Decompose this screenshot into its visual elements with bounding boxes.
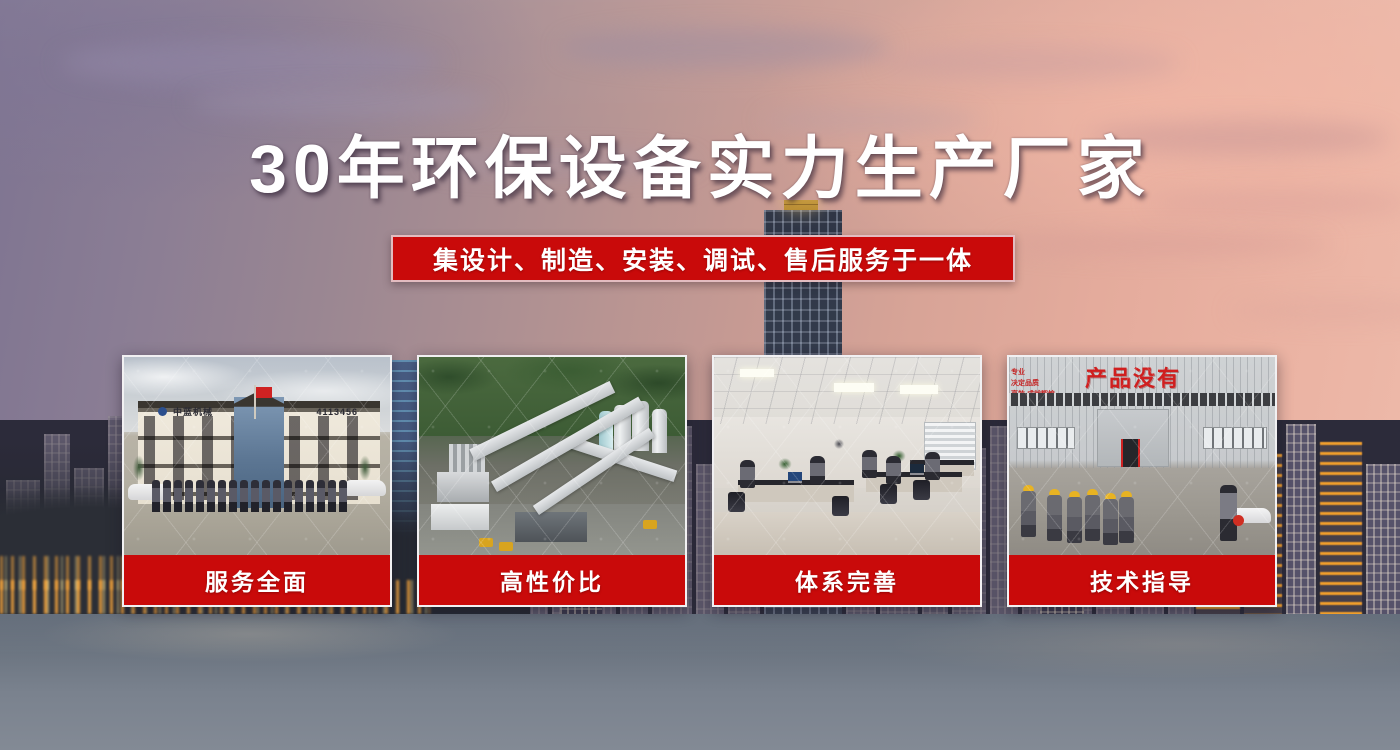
worker-figure (1119, 491, 1134, 543)
card-photo-factory-workers: 专业 决定品质 高效 成就辉煌 产品没有 (1009, 357, 1275, 555)
card-caption: 技术指导 (1009, 555, 1275, 605)
card-caption: 服务全面 (124, 555, 390, 605)
illuminated-building (1320, 442, 1362, 630)
card-caption: 高性价比 (419, 555, 685, 605)
worker-figure (1047, 489, 1062, 541)
feature-card-service[interactable]: 中蓝机械 4113456 服务全面 (122, 355, 392, 607)
subtitle-banner: 集设计、制造、安装、调试、售后服务于一体 (391, 235, 1015, 282)
card-photo-office-interior (714, 357, 980, 555)
card-photo-industrial-plant (419, 357, 685, 555)
company-phone: 4113456 (316, 407, 358, 417)
feature-card-list: 中蓝机械 4113456 服务全面 (122, 355, 1280, 607)
wall-slogan-word: 专业 (1011, 369, 1025, 376)
page-title: 30年环保设备实力生产厂家 (0, 133, 1400, 205)
feature-card-value[interactable]: 高性价比 (417, 355, 687, 607)
river-water (0, 614, 1400, 750)
cloud (760, 108, 980, 132)
promo-banner: 30年环保设备实力生产厂家 集设计、制造、安装、调试、售后服务于一体 中蓝机械 (0, 0, 1400, 750)
wall-slogan-small: 专业 决定品质 高效 成就辉煌 (1011, 367, 1081, 395)
wall-decal (822, 424, 856, 454)
wall-slogan: 产品没有 (1085, 361, 1275, 391)
worker-figure (1103, 493, 1118, 545)
company-logo-icon (158, 407, 167, 416)
cloud (560, 28, 890, 68)
worker-figure (1021, 485, 1036, 537)
wall-slogan-word: 决定品质 (1011, 380, 1039, 387)
supervisor-figure (1220, 485, 1237, 541)
cloud (60, 40, 440, 86)
worker-figure (1085, 489, 1100, 541)
cloud (880, 46, 1180, 80)
cloud (190, 88, 490, 118)
monitor (788, 472, 802, 483)
building-sign: 中蓝机械 4113456 (158, 405, 358, 419)
feature-card-system[interactable]: 体系完善 (712, 355, 982, 607)
card-photo-office-building: 中蓝机械 4113456 (124, 357, 390, 555)
monitor (910, 464, 924, 475)
staff-row (152, 476, 366, 512)
feature-card-training[interactable]: 专业 决定品质 高效 成就辉煌 产品没有 (1007, 355, 1277, 607)
subtitle-text: 集设计、制造、安装、调试、售后服务于一体 (433, 241, 973, 277)
card-caption: 体系完善 (714, 555, 980, 605)
company-name: 中蓝机械 (173, 405, 213, 418)
worker-figure (1067, 491, 1082, 543)
